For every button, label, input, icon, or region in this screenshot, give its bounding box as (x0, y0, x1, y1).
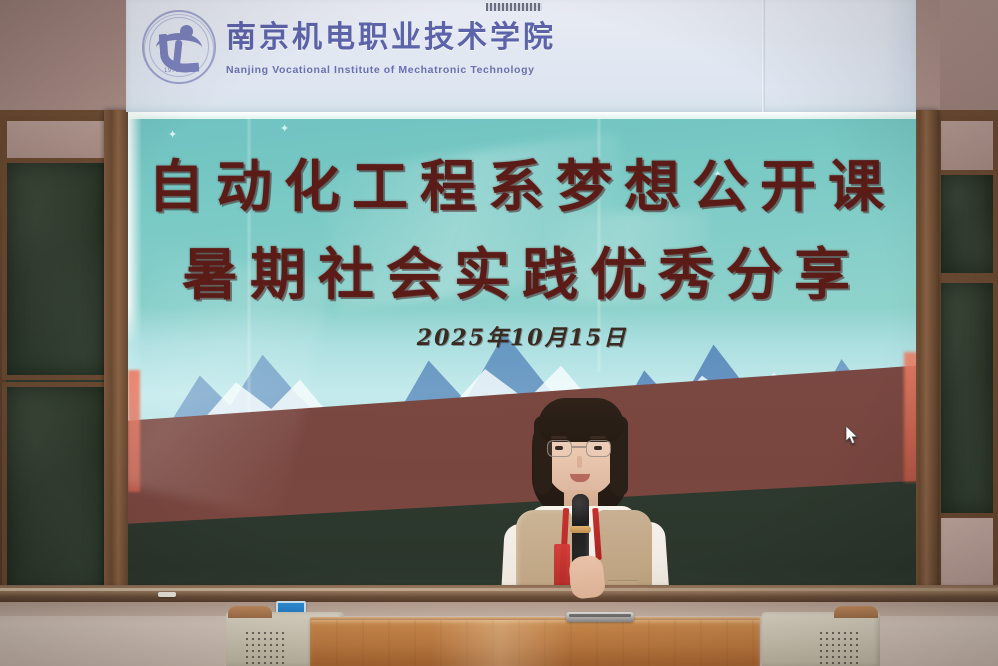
hand-holding-microphone (568, 554, 606, 599)
eye-left (555, 446, 563, 450)
screen-seam (762, 0, 765, 112)
chalkboard-panel-right-bottom[interactable] (936, 278, 998, 518)
institution-name-cn: 南京机电职业技术学院 (226, 12, 556, 56)
wall-strip-right (936, 116, 998, 170)
banner-date: 2025年10月15日 (128, 320, 916, 352)
institution-name-block: 南京机电职业技术学院 Nanjing Vocational Institute … (226, 12, 556, 76)
eyebrow-left (551, 436, 567, 439)
podium-desk (310, 620, 760, 666)
speaker-grille-right (818, 630, 862, 666)
bird-graphic-2: ✦ (280, 122, 289, 135)
chalkboard-panel-left-bottom[interactable] (2, 382, 110, 600)
banner-headline-line2: 暑期社会实践优秀分享 (128, 230, 916, 311)
glasses-bridge (572, 446, 586, 448)
school-emblem-icon: 1978 (138, 6, 220, 88)
loudspeaker-right (762, 612, 880, 666)
nose (577, 456, 582, 468)
emblem-year: 1978 (164, 68, 179, 74)
eyebrow-right (590, 436, 606, 439)
id-badge (554, 544, 570, 588)
bird-graphic-1: ✦ (168, 128, 177, 141)
chalk-piece (158, 592, 176, 597)
banner-top-edge (128, 112, 916, 119)
wall-top-right (940, 0, 998, 116)
wall-top-left (0, 0, 128, 112)
banner-red-edge-right (904, 352, 916, 482)
banner-headline-line1: 自动化工程系梦想公开课 (128, 142, 916, 223)
banner-red-edge-left (128, 370, 140, 492)
classroom-scene: 1978 南京机电职业技术学院 Nanjing Vocational Insti… (0, 0, 998, 666)
projection-header-slide: 1978 南京机电职业技术学院 Nanjing Vocational Insti… (126, 0, 916, 112)
speaker-grille-left (244, 630, 288, 666)
chalkboard-panel-left-top[interactable] (2, 158, 110, 380)
smartphone[interactable]: smartphone (566, 612, 634, 622)
eye-right (594, 446, 602, 450)
chalkboard-panel-right-top[interactable] (936, 170, 998, 278)
institution-name-en: Nanjing Vocational Institute of Mechatro… (226, 64, 556, 76)
ceiling-light-strip (486, 3, 542, 11)
wall-strip-left (2, 116, 110, 158)
chalk-ledge-highlight (0, 588, 998, 591)
